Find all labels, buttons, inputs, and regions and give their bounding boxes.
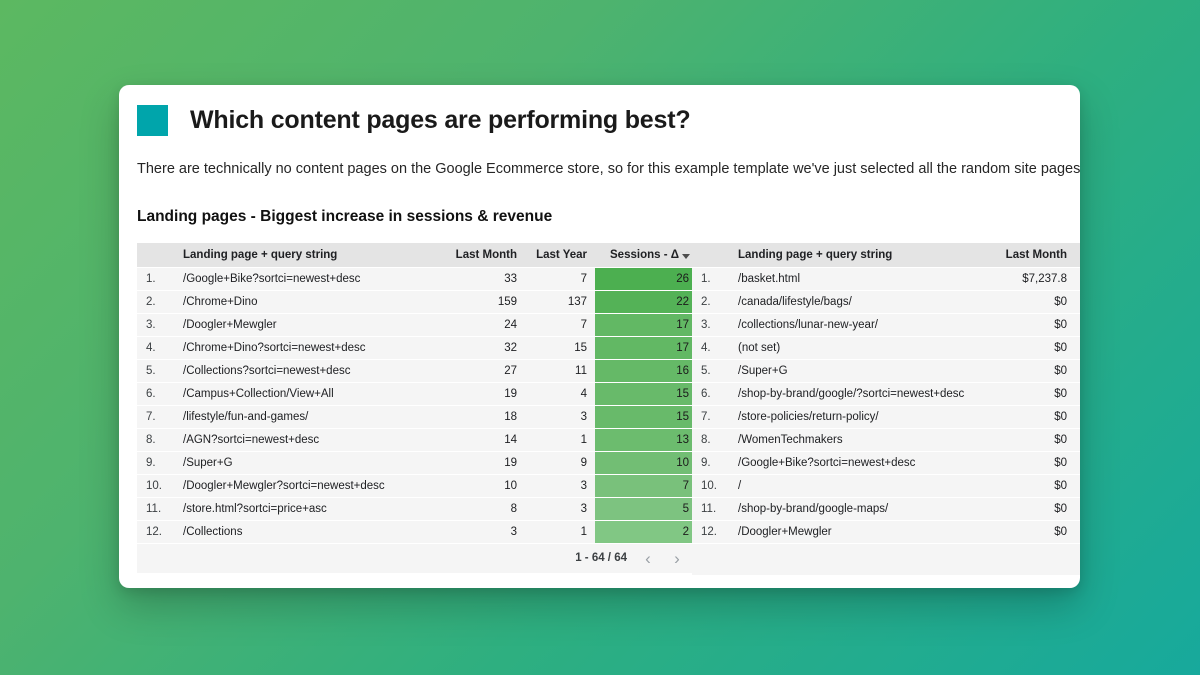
- cell-index: 7.: [137, 405, 175, 428]
- cell-last-month: 159: [433, 290, 525, 313]
- table-row[interactable]: 9./Google+Bike?sortci=newest+desc$0: [692, 451, 1080, 474]
- table-row[interactable]: 10./$0: [692, 474, 1080, 497]
- cell-last-month: 14: [433, 428, 525, 451]
- cell-landing-page: /store-policies/return-policy/: [730, 405, 983, 428]
- cell-landing-page: /Doogler+Mewgler: [730, 520, 983, 543]
- cell-landing-page: /Doogler+Mewgler: [175, 313, 433, 336]
- column-header-last-year[interactable]: Last Year: [525, 243, 595, 267]
- cell-last-month: $0: [983, 520, 1075, 543]
- cell-landing-page: /Campus+Collection/View+All: [175, 382, 433, 405]
- cell-index: 12.: [137, 520, 175, 543]
- table-row[interactable]: 12./Collections312: [137, 520, 697, 543]
- cell-landing-page: /basket.html: [730, 267, 983, 290]
- table-header-row: Landing page + query string Last Month L…: [137, 243, 697, 267]
- sessions-table-foot: 1 - 64 / 64 ‹ ›: [137, 543, 697, 573]
- cell-last-year: [1075, 382, 1080, 405]
- cell-last-year: 3: [525, 405, 595, 428]
- cell-sessions-delta: 17: [595, 313, 697, 336]
- cell-last-year: [1075, 336, 1080, 359]
- cell-landing-page: (not set): [730, 336, 983, 359]
- column-header-last-month[interactable]: Last Month: [433, 243, 525, 267]
- cell-last-year: 1: [525, 520, 595, 543]
- sessions-table-head: Landing page + query string Last Month L…: [137, 243, 697, 267]
- cell-sessions-delta: 16: [595, 359, 697, 382]
- sessions-table: Landing page + query string Last Month L…: [137, 243, 697, 573]
- cell-landing-page: /Super+G: [730, 359, 983, 382]
- cell-index: 6.: [692, 382, 730, 405]
- table-header-row: Landing page + query string Last Month L…: [692, 243, 1080, 267]
- cell-landing-page: /Super+G: [175, 451, 433, 474]
- cell-last-year: 4: [525, 382, 595, 405]
- cell-last-month: 27: [433, 359, 525, 382]
- revenue-table-body: 1./basket.html$7,237.8$2./canada/lifesty…: [692, 267, 1080, 543]
- cell-last-month: $0: [983, 497, 1075, 520]
- table-row[interactable]: 5./Collections?sortci=newest+desc271116: [137, 359, 697, 382]
- column-header-last-month[interactable]: Last Month: [983, 243, 1075, 267]
- table-row[interactable]: 8./WomenTechmakers$0: [692, 428, 1080, 451]
- column-header-sessions-delta-label: Sessions - Δ: [610, 249, 679, 261]
- cell-index: 3.: [137, 313, 175, 336]
- cell-sessions-delta: 2: [595, 520, 697, 543]
- cell-landing-page: /Chrome+Dino: [175, 290, 433, 313]
- cell-last-year: 3: [525, 474, 595, 497]
- cell-sessions-delta: 26: [595, 267, 697, 290]
- page-title: Which content pages are performing best?: [190, 106, 690, 135]
- table-row[interactable]: 9./Super+G19910: [137, 451, 697, 474]
- cell-last-year: [1075, 520, 1080, 543]
- cell-sessions-delta: 17: [595, 336, 697, 359]
- pagination-cell: 1 - 64 / 64 ‹ ›: [137, 543, 697, 573]
- cell-index: 4.: [692, 336, 730, 359]
- pagination-label: 1 - 64 / 64: [575, 552, 627, 564]
- revenue-table-foot-row: [692, 543, 1080, 575]
- cell-index: 1.: [137, 267, 175, 290]
- cell-last-year: [1075, 290, 1080, 313]
- cell-last-year: [1075, 497, 1080, 520]
- card-header: Which content pages are performing best?: [137, 105, 1080, 136]
- chevron-left-icon[interactable]: ‹: [640, 550, 656, 567]
- cell-last-month: 32: [433, 336, 525, 359]
- cell-last-month: $0: [983, 336, 1075, 359]
- revenue-table: Landing page + query string Last Month L…: [692, 243, 1080, 575]
- column-header-index[interactable]: [692, 243, 730, 267]
- cell-last-month: $0: [983, 405, 1075, 428]
- cell-sessions-delta: 15: [595, 382, 697, 405]
- table-row[interactable]: 11./shop-by-brand/google-maps/$0: [692, 497, 1080, 520]
- cell-index: 7.: [692, 405, 730, 428]
- section-title: Landing pages - Biggest increase in sess…: [137, 208, 1080, 226]
- column-header-index[interactable]: [137, 243, 175, 267]
- cell-index: 8.: [137, 428, 175, 451]
- cell-sessions-delta: 7: [595, 474, 697, 497]
- revenue-table-wrap: Landing page + query string Last Month L…: [692, 243, 1080, 575]
- table-row[interactable]: 7./store-policies/return-policy/$0: [692, 405, 1080, 428]
- table-row[interactable]: 6./shop-by-brand/google/?sortci=newest+d…: [692, 382, 1080, 405]
- cell-index: 12.: [692, 520, 730, 543]
- cell-last-month: 33: [433, 267, 525, 290]
- chevron-right-icon[interactable]: ›: [669, 550, 685, 567]
- cell-last-year: 7: [525, 267, 595, 290]
- cell-last-month: $0: [983, 428, 1075, 451]
- cell-last-year: [1075, 474, 1080, 497]
- column-header-sessions-delta[interactable]: Sessions - Δ: [595, 243, 697, 267]
- table-row[interactable]: 10./Doogler+Mewgler?sortci=newest+desc10…: [137, 474, 697, 497]
- cell-last-month: 10: [433, 474, 525, 497]
- cell-last-year: 137: [525, 290, 595, 313]
- cell-last-year: $: [1075, 267, 1080, 290]
- table-row[interactable]: 7./lifestyle/fun-and-games/18315: [137, 405, 697, 428]
- table-row[interactable]: 11./store.html?sortci=price+asc835: [137, 497, 697, 520]
- table-row[interactable]: 5./Super+G$0: [692, 359, 1080, 382]
- cell-last-month: $0: [983, 382, 1075, 405]
- cell-landing-page: /WomenTechmakers: [730, 428, 983, 451]
- cell-last-year: 15: [525, 336, 595, 359]
- cell-last-year: [1075, 405, 1080, 428]
- cell-landing-page: /Doogler+Mewgler?sortci=newest+desc: [175, 474, 433, 497]
- cell-index: 11.: [692, 497, 730, 520]
- cell-last-month: 3: [433, 520, 525, 543]
- table-row[interactable]: 12./Doogler+Mewgler$0: [692, 520, 1080, 543]
- cell-last-year: 9: [525, 451, 595, 474]
- cell-last-month: 24: [433, 313, 525, 336]
- table-row[interactable]: 1./basket.html$7,237.8$: [692, 267, 1080, 290]
- teal-square-icon: [137, 105, 168, 136]
- revenue-table-foot-cell: [692, 543, 1080, 575]
- revenue-table-head: Landing page + query string Last Month L…: [692, 243, 1080, 267]
- cell-index: 9.: [692, 451, 730, 474]
- table-row[interactable]: 4./Chrome+Dino?sortci=newest+desc321517: [137, 336, 697, 359]
- cell-last-month: 19: [433, 451, 525, 474]
- cell-landing-page: /collections/lunar-new-year/: [730, 313, 983, 336]
- cell-last-month: 8: [433, 497, 525, 520]
- table-row[interactable]: 3./collections/lunar-new-year/$0: [692, 313, 1080, 336]
- card-subtitle: There are technically no content pages o…: [137, 161, 1080, 177]
- cell-landing-page: /shop-by-brand/google-maps/: [730, 497, 983, 520]
- cell-last-month: $0: [983, 290, 1075, 313]
- cell-landing-page: /Google+Bike?sortci=newest+desc: [730, 451, 983, 474]
- cell-index: 9.: [137, 451, 175, 474]
- cell-index: 2.: [692, 290, 730, 313]
- cell-landing-page: /shop-by-brand/google/?sortci=newest+des…: [730, 382, 983, 405]
- cell-last-year: 3: [525, 497, 595, 520]
- cell-index: 8.: [692, 428, 730, 451]
- table-row[interactable]: 3./Doogler+Mewgler24717: [137, 313, 697, 336]
- column-header-landing-page[interactable]: Landing page + query string: [175, 243, 433, 267]
- cell-last-year: 7: [525, 313, 595, 336]
- table-row[interactable]: 2./Chrome+Dino15913722: [137, 290, 697, 313]
- cell-sessions-delta: 10: [595, 451, 697, 474]
- cell-sessions-delta: 5: [595, 497, 697, 520]
- pagination: 1 - 64 / 64 ‹ ›: [145, 550, 689, 567]
- cell-last-month: 19: [433, 382, 525, 405]
- cell-landing-page: /canada/lifestyle/bags/: [730, 290, 983, 313]
- cell-last-month: $0: [983, 359, 1075, 382]
- cell-index: 3.: [692, 313, 730, 336]
- cell-index: 2.: [137, 290, 175, 313]
- cell-index: 1.: [692, 267, 730, 290]
- cell-last-month: $0: [983, 474, 1075, 497]
- cell-landing-page: /store.html?sortci=price+asc: [175, 497, 433, 520]
- cell-index: 5.: [692, 359, 730, 382]
- cell-last-year: [1075, 428, 1080, 451]
- cell-last-year: [1075, 313, 1080, 336]
- column-header-last-year[interactable]: La: [1075, 243, 1080, 267]
- chevron-down-icon[interactable]: [682, 254, 690, 259]
- cell-landing-page: /Chrome+Dino?sortci=newest+desc: [175, 336, 433, 359]
- cell-index: 11.: [137, 497, 175, 520]
- cell-sessions-delta: 15: [595, 405, 697, 428]
- cell-landing-page: /: [730, 474, 983, 497]
- cell-landing-page: /lifestyle/fun-and-games/: [175, 405, 433, 428]
- cell-sessions-delta: 22: [595, 290, 697, 313]
- table-row[interactable]: 4.(not set)$0: [692, 336, 1080, 359]
- cell-last-year: [1075, 359, 1080, 382]
- cell-last-year: 11: [525, 359, 595, 382]
- table-row[interactable]: 1./Google+Bike?sortci=newest+desc33726: [137, 267, 697, 290]
- sessions-table-body: 1./Google+Bike?sortci=newest+desc337262.…: [137, 267, 697, 543]
- table-row[interactable]: 2./canada/lifestyle/bags/$0: [692, 290, 1080, 313]
- cell-index: 10.: [692, 474, 730, 497]
- cell-landing-page: /AGN?sortci=newest+desc: [175, 428, 433, 451]
- cell-landing-page: /Collections: [175, 520, 433, 543]
- cell-last-year: [1075, 451, 1080, 474]
- cell-index: 5.: [137, 359, 175, 382]
- cell-index: 10.: [137, 474, 175, 497]
- tables-container: Landing page + query string Last Month L…: [137, 243, 1080, 575]
- cell-last-year: 1: [525, 428, 595, 451]
- cell-last-month: $7,237.8: [983, 267, 1075, 290]
- cell-sessions-delta: 13: [595, 428, 697, 451]
- column-header-landing-page[interactable]: Landing page + query string: [730, 243, 983, 267]
- cell-landing-page: /Collections?sortci=newest+desc: [175, 359, 433, 382]
- report-card: Which content pages are performing best?…: [119, 85, 1080, 588]
- table-row[interactable]: 6./Campus+Collection/View+All19415: [137, 382, 697, 405]
- pagination-row: 1 - 64 / 64 ‹ ›: [137, 543, 697, 573]
- sessions-table-wrap: Landing page + query string Last Month L…: [137, 243, 667, 575]
- table-row[interactable]: 8./AGN?sortci=newest+desc14113: [137, 428, 697, 451]
- cell-index: 4.: [137, 336, 175, 359]
- cell-last-month: $0: [983, 451, 1075, 474]
- cell-index: 6.: [137, 382, 175, 405]
- cell-last-month: $0: [983, 313, 1075, 336]
- cell-last-month: 18: [433, 405, 525, 428]
- revenue-table-foot: [692, 543, 1080, 575]
- cell-landing-page: /Google+Bike?sortci=newest+desc: [175, 267, 433, 290]
